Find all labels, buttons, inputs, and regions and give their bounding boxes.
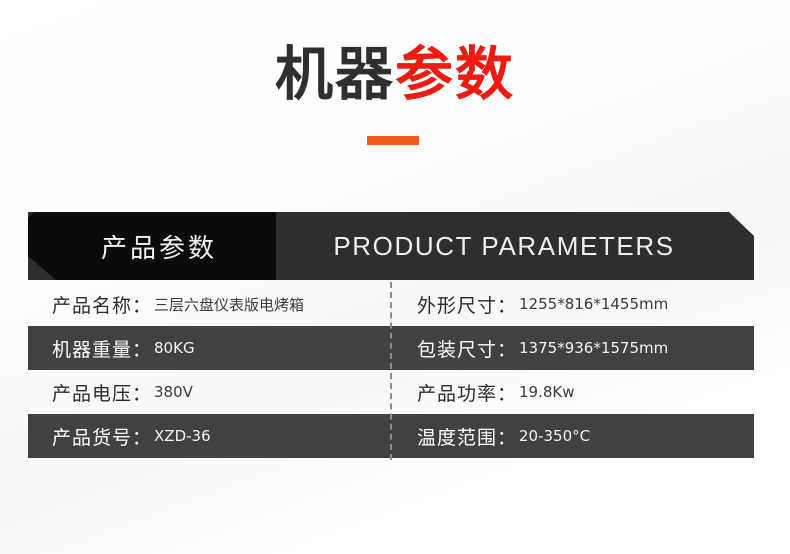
spec-cell-right: 产品功率： 19.8Kw — [391, 370, 754, 414]
spec-label: 产品电压： — [52, 379, 152, 406]
spec-label: 产品名称： — [52, 291, 152, 318]
spec-cell-left: 产品货号： XZD-36 — [28, 414, 391, 458]
spec-cell-left: 产品名称： 三层六盘仪表版电烤箱 — [28, 282, 391, 326]
spec-cell-right: 温度范围： 20-350°C — [391, 414, 754, 458]
spec-value: XZD-36 — [154, 427, 211, 445]
spec-value: 1255*816*1455mm — [519, 295, 668, 313]
spec-value: 19.8Kw — [519, 383, 575, 401]
spec-label: 外形尺寸： — [417, 291, 517, 318]
page-title-accent: 参数 — [395, 40, 515, 108]
page-title-primary: 机器 — [275, 40, 395, 108]
spec-value: 三层六盘仪表版电烤箱 — [154, 294, 304, 315]
spec-cell-left: 机器重量： 80KG — [28, 326, 391, 370]
column-divider — [390, 282, 392, 460]
banner-title-cn: 产品参数 — [28, 212, 276, 280]
spec-cell-right: 包装尺寸： 1375*936*1575mm — [391, 326, 754, 370]
spec-cell-right: 外形尺寸： 1255*816*1455mm — [391, 282, 754, 326]
spec-value: 80KG — [154, 339, 195, 357]
spec-label: 产品货号： — [52, 423, 152, 450]
spec-value: 1375*936*1575mm — [519, 339, 668, 357]
spec-cell-left: 产品电压： 380V — [28, 370, 391, 414]
spec-label: 包装尺寸： — [417, 335, 517, 362]
banner-title-en: PRODUCT PARAMETERS — [276, 212, 754, 280]
spec-label: 机器重量： — [52, 335, 152, 362]
spec-label: 温度范围： — [417, 423, 517, 450]
section-header-banner: 产品参数 PRODUCT PARAMETERS — [28, 212, 754, 280]
spec-value: 20-350°C — [519, 427, 590, 445]
page-title: 机器参数 — [0, 44, 790, 105]
spec-value: 380V — [154, 383, 193, 401]
spec-label: 产品功率： — [417, 379, 517, 406]
title-underline-bar — [367, 136, 419, 145]
